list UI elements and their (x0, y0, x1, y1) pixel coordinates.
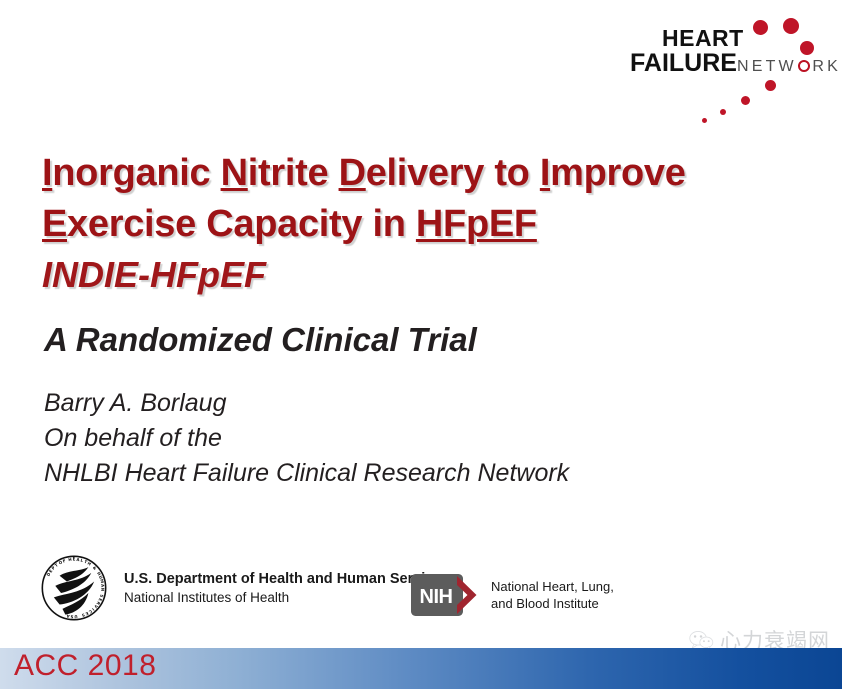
nhlbi-logo-block: NIH National Heart, Lung, and Blood Inst… (411, 574, 614, 616)
hfn-network-suffix: RK (812, 58, 841, 75)
slide-title-block: Inorganic Nitrite Delivery to Improve Ex… (42, 148, 742, 300)
title-initial-e: E (42, 203, 67, 245)
svg-text:NIH: NIH (420, 586, 453, 608)
heart-failure-network-logo: HEART FAILURENETWRK (628, 8, 838, 126)
svg-text:S: S (81, 612, 85, 618)
nih-logo-icon: NIH (411, 574, 481, 616)
title-line-1: Inorganic Nitrite Delivery to Improve (42, 148, 742, 199)
svg-text:M: M (99, 578, 105, 583)
hhs-logo-block: D E P T O F H E A L T H & H U M A N S E (38, 548, 450, 628)
svg-text:N: N (100, 588, 105, 592)
svg-text:S: S (70, 614, 73, 619)
title-initial-i: I (42, 152, 52, 194)
logo-dot-icon (765, 80, 776, 91)
hfn-network-text: NETWRK (737, 58, 841, 75)
title-line-2: Exercise Capacity in HFpEF (42, 199, 742, 250)
slide-subtitle: A Randomized Clinical Trial (44, 320, 477, 360)
title-initial-n: N (221, 152, 248, 194)
svg-text:H: H (87, 561, 93, 567)
svg-text:&: & (92, 565, 98, 571)
presentation-slide: HEART FAILURENETWRK Inorganic Nitrite De… (0, 0, 842, 689)
title-initial-d: D (339, 152, 366, 194)
logo-dot-icon (720, 109, 726, 115)
hhs-department-line: U.S. Department of Health and Human Serv… (124, 570, 450, 589)
logo-dot-icon (702, 118, 707, 123)
trial-acronym: INDIE-HFpEF (42, 250, 742, 300)
hfn-failure-text: FAILURE (630, 49, 737, 77)
title-hfpef: HFpEF (416, 203, 537, 245)
on-behalf-text: On behalf of the (44, 421, 569, 456)
svg-text:F: F (62, 558, 67, 564)
nhlbi-text-block: National Heart, Lung, and Blood Institut… (491, 578, 614, 612)
logo-dot-icon (753, 20, 768, 35)
presenter-name: Barry A. Borlaug (44, 386, 569, 421)
logo-dot-icon (741, 96, 750, 105)
logo-dot-icon (800, 41, 814, 55)
title-initial-i2: I (540, 152, 550, 194)
hhs-seal-icon: D E P T O F H E A L T H & H U M A N S E (38, 548, 110, 628)
network-affiliation: NHLBI Heart Failure Clinical Research Ne… (44, 456, 569, 491)
svg-text:U: U (74, 614, 78, 619)
presenter-byline: Barry A. Borlaug On behalf of the NHLBI … (44, 386, 569, 491)
svg-text:H: H (68, 557, 72, 562)
hfn-network-prefix: NETW (737, 58, 797, 75)
svg-text:E: E (73, 557, 76, 562)
conference-label: ACC 2018 (14, 649, 156, 683)
logo-dot-icon (783, 18, 799, 34)
nhlbi-line-2: and Blood Institute (491, 595, 614, 612)
nhlbi-line-1: National Heart, Lung, (491, 578, 614, 595)
hhs-text-block: U.S. Department of Health and Human Serv… (124, 570, 450, 607)
hfn-network-o-ring-icon (798, 60, 810, 72)
hhs-nih-line: National Institutes of Health (124, 589, 450, 607)
